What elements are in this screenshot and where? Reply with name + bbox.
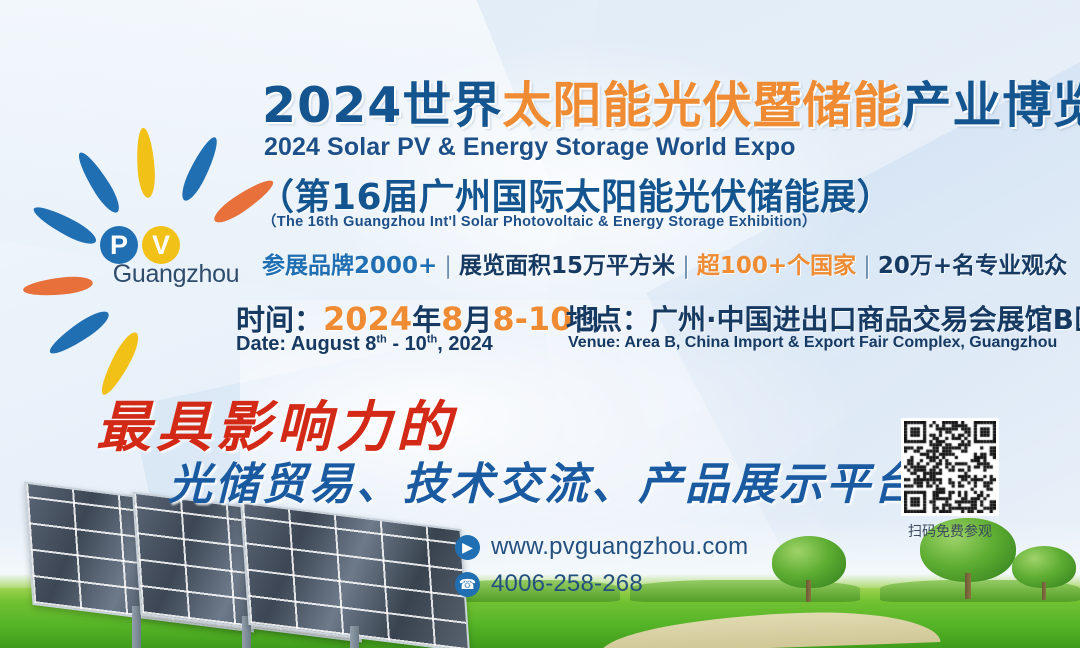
date-en-ordinal2: th xyxy=(427,333,437,345)
title-part-3: 产业博览会 xyxy=(902,77,1080,134)
page-title: 2024世界太阳能光伏暨储能产业博览会 xyxy=(262,66,1080,137)
page-title-english: 2024 Solar PV & Energy Storage World Exp… xyxy=(264,133,796,162)
date-label: 时间： xyxy=(236,303,323,337)
date-en-mid: - xyxy=(387,333,405,355)
venue-text: 广州·中国进出口商品交易会展馆B区 xyxy=(650,303,1080,336)
logo-letter-p: P xyxy=(100,226,138,264)
pv-monogram: P V xyxy=(100,226,180,264)
phone-icon: ☎ xyxy=(455,572,480,597)
stats-bar: 参展品牌2000+|展览面积15万平方米|超100+个国家|20万+名专业观众 xyxy=(262,246,1067,280)
page-subtitle-english: （The 16th Guangzhou Int'l Solar Photovol… xyxy=(262,210,817,231)
stat-separator: | xyxy=(444,253,452,279)
event-venue-english: Venue: Area B, China Import & Export Fai… xyxy=(568,334,1057,352)
date-en-suffix: , 2024 xyxy=(437,333,493,355)
title-part-2: 太阳能光伏暨储能 xyxy=(502,77,902,134)
date-year-unit: 年 xyxy=(412,303,441,337)
website-row[interactable]: ▶ www.pvguangzhou.com xyxy=(455,533,748,561)
stat-visitors: 20万+名专业观众 xyxy=(878,253,1067,279)
stat-area: 展览面积15万平方米 xyxy=(459,253,675,279)
stat-separator: | xyxy=(682,253,690,279)
qr-block: 扫码免费参观 xyxy=(901,418,999,541)
tree xyxy=(1012,546,1076,596)
date-en-prefix: Date: August xyxy=(236,333,365,355)
date-en-day1: 8 xyxy=(365,333,376,355)
event-date-english: Date: August 8th - 10th, 2024 xyxy=(236,333,493,356)
phone-row[interactable]: ☎ 4006-258-268 xyxy=(455,570,748,598)
venue-label: 地点： xyxy=(566,303,650,336)
title-part-1: 2024世界 xyxy=(262,77,502,134)
stat-separator: | xyxy=(863,253,871,279)
date-month-unit: 月 xyxy=(463,303,492,337)
qr-caption: 扫码免费参观 xyxy=(901,521,999,541)
date-dash: - xyxy=(515,300,528,338)
logo-letter-v: V xyxy=(142,226,180,264)
tree xyxy=(772,536,846,600)
event-venue-chinese: 地点：广州·中国进出口商品交易会展馆B区 xyxy=(566,298,1080,338)
contact-block: ▶ www.pvguangzhou.com ☎ 4006-258-268 xyxy=(455,533,748,607)
expo-promo-banner: P V Guangzhou 2024世界太阳能光伏暨储能产业博览会 2024 S… xyxy=(0,0,1080,648)
date-en-ordinal1: th xyxy=(376,333,386,345)
globe-play-icon: ▶ xyxy=(455,535,480,560)
date-en-day2: 10 xyxy=(405,333,427,355)
website-url[interactable]: www.pvguangzhou.com xyxy=(491,533,748,561)
stat-countries: 超100+个国家 xyxy=(697,253,856,279)
pv-guangzhou-sunburst-logo: P V Guangzhou xyxy=(48,104,258,289)
stat-brands: 参展品牌2000+ xyxy=(262,253,437,279)
phone-number[interactable]: 4006-258-268 xyxy=(491,570,643,598)
date-day-start: 8 xyxy=(492,300,514,338)
logo-city-label: Guangzhou xyxy=(86,260,266,289)
slogan-line-2: 光储贸易、技术交流、产品展示平台！ xyxy=(168,448,967,512)
qr-code[interactable] xyxy=(901,418,999,516)
